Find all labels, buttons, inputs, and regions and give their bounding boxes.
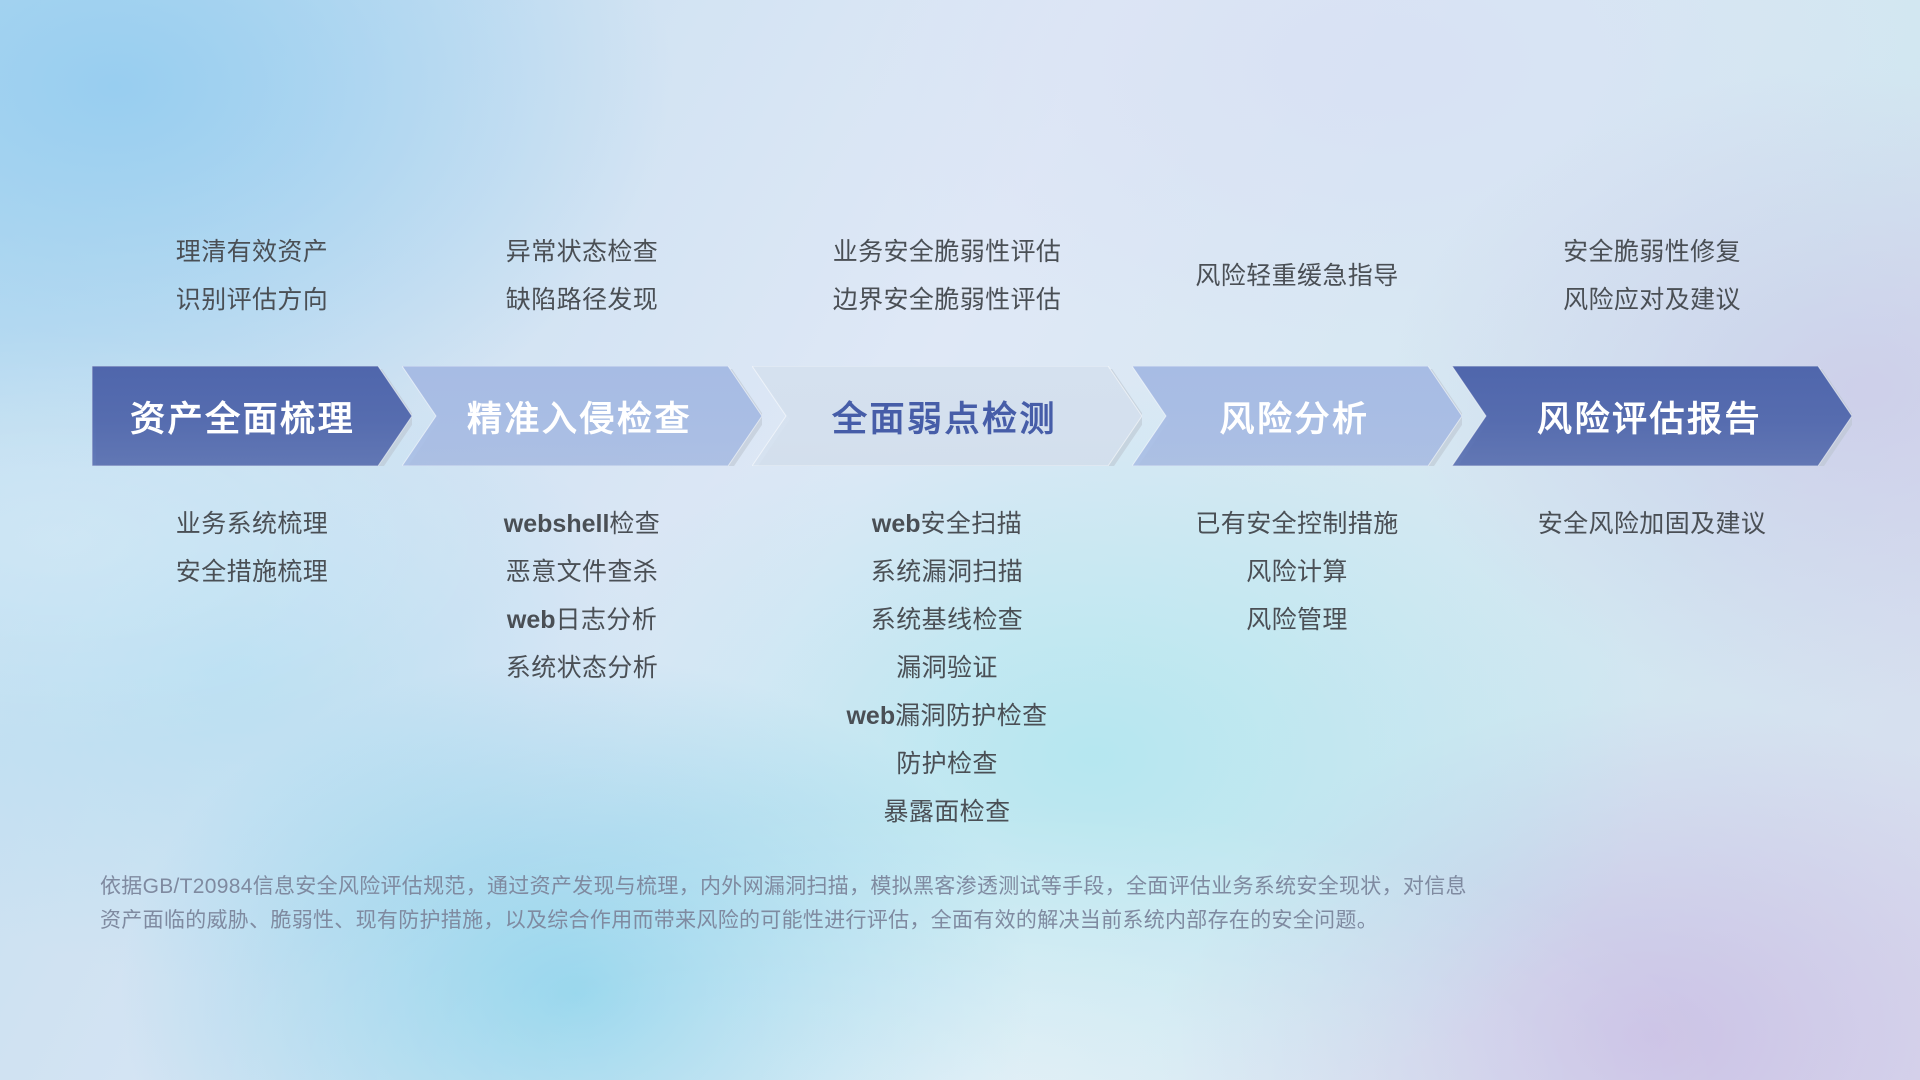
stage-label-1: 资产全面梳理 (130, 391, 355, 442)
top-notes-stage-2: 异常状态检查缺陷路径发现 (382, 228, 782, 324)
process-stage-1[interactable]: 资产全面梳理 (92, 366, 412, 466)
note-line: 风险应对及建议 (1452, 276, 1852, 324)
note-line: web漏洞防护检查 (727, 692, 1167, 740)
note-line: 风险轻重缓急指导 (1097, 252, 1497, 300)
note-line: 安全脆弱性修复 (1452, 228, 1852, 276)
process-arrow-band: 资产全面梳理精准入侵检查全面弱点检测风险分析风险评估报告 (92, 366, 1852, 466)
footer-line-2: 资产面临的威胁、脆弱性、现有防护措施，以及综合作用而带来风险的可能性进行评估，全… (100, 904, 1720, 938)
note-line: 风险管理 (1077, 596, 1517, 644)
footer-line-1: 依据GB/T20984信息安全风险评估规范，通过资产发现与梳理，内外网漏洞扫描，… (100, 870, 1720, 904)
note-line: 风险计算 (1077, 548, 1517, 596)
bottom-notes-stage-5: 安全风险加固及建议 (1432, 500, 1872, 548)
note-line: 漏洞验证 (727, 644, 1167, 692)
top-notes-stage-5: 安全脆弱性修复风险应对及建议 (1452, 228, 1852, 324)
process-stage-4[interactable]: 风险分析 (1132, 366, 1462, 466)
note-line: 异常状态检查 (382, 228, 782, 276)
diagram-stage: 理清有效资产识别评估方向异常状态检查缺陷路径发现业务安全脆弱性评估边界安全脆弱性… (0, 0, 1920, 1080)
note-line: 安全风险加固及建议 (1432, 500, 1872, 548)
note-line: 缺陷路径发现 (382, 276, 782, 324)
footer-description: 依据GB/T20984信息安全风险评估规范，通过资产发现与梳理，内外网漏洞扫描，… (100, 870, 1720, 938)
stage-label-4: 风险分析 (1219, 391, 1369, 442)
process-stage-5[interactable]: 风险评估报告 (1452, 366, 1852, 466)
process-stage-3[interactable]: 全面弱点检测 (752, 366, 1142, 466)
process-stage-2[interactable]: 精准入侵检查 (402, 366, 762, 466)
stage-label-3: 全面弱点检测 (832, 391, 1057, 442)
note-line: 暴露面检查 (727, 788, 1167, 836)
top-notes-stage-3: 业务安全脆弱性评估边界安全脆弱性评估 (747, 228, 1147, 324)
note-line: 业务安全脆弱性评估 (747, 228, 1147, 276)
stage-label-2: 精准入侵检查 (467, 391, 692, 442)
stage-label-5: 风险评估报告 (1537, 391, 1762, 442)
top-notes-stage-4: 风险轻重缓急指导 (1097, 252, 1497, 300)
note-line: 边界安全脆弱性评估 (747, 276, 1147, 324)
note-line: 防护检查 (727, 740, 1167, 788)
